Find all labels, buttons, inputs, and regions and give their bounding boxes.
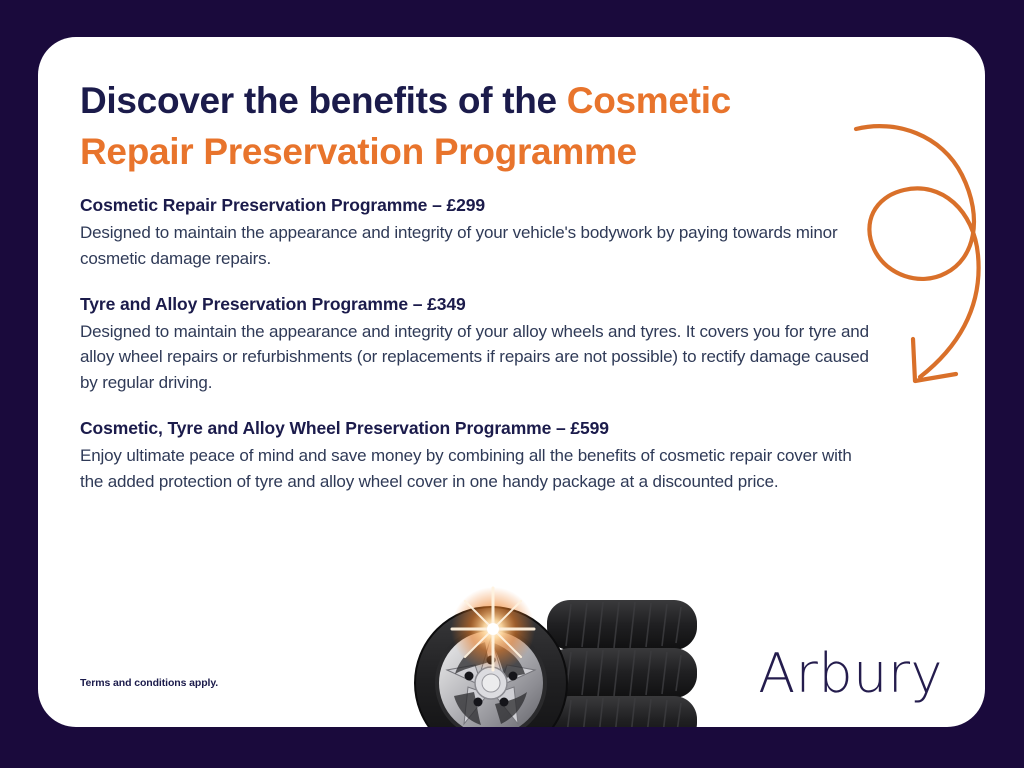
content-card: Discover the benefits of the Cosmetic Re…: [38, 37, 985, 727]
arrow-stroke: [856, 126, 979, 377]
page-title-accent-1: Cosmetic: [567, 80, 731, 121]
programme-item: Tyre and Alloy Preservation Programme – …: [80, 294, 870, 396]
programme-description: Designed to maintain the appearance and …: [80, 319, 870, 396]
programme-title: Cosmetic Repair Preservation Programme –…: [80, 195, 870, 216]
programme-title: Tyre and Alloy Preservation Programme – …: [80, 294, 870, 315]
stacked-tyres-image: [375, 582, 720, 727]
arbury-logo: Arbury: [758, 647, 943, 701]
programme-description: Enjoy ultimate peace of mind and save mo…: [80, 443, 870, 495]
page-title-accent-2: Repair Preservation Programme: [80, 131, 637, 172]
terms-and-conditions: Terms and conditions apply.: [80, 677, 218, 689]
programme-item: Cosmetic Repair Preservation Programme –…: [80, 195, 870, 272]
page-title-lead: Discover the benefits of the: [80, 80, 567, 121]
poster-canvas: Discover the benefits of the Cosmetic Re…: [0, 0, 1024, 768]
arrow-head: [913, 339, 956, 381]
orange-starburst-sparkle-icon: [451, 587, 535, 671]
programme-list: Cosmetic Repair Preservation Programme –…: [80, 195, 870, 495]
programme-item: Cosmetic, Tyre and Alloy Wheel Preservat…: [80, 418, 870, 495]
programme-title: Cosmetic, Tyre and Alloy Wheel Preservat…: [80, 418, 870, 439]
page-title: Discover the benefits of the Cosmetic Re…: [80, 75, 840, 177]
programme-description: Designed to maintain the appearance and …: [80, 220, 870, 272]
tyre-stack-back: [547, 600, 697, 727]
